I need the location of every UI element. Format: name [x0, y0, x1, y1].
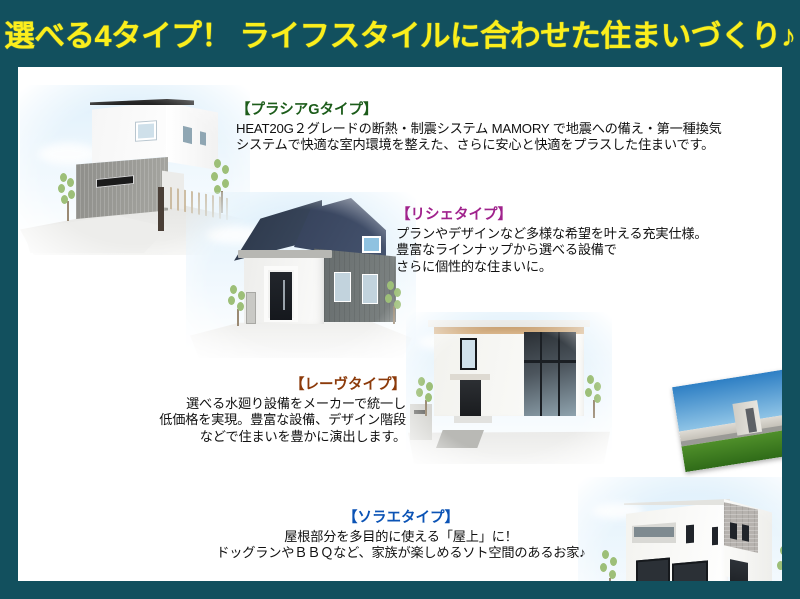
approach-paving: [436, 430, 484, 448]
type-block-riche: 【リシェタイプ】 プランやデザインなど多様な希望を叶える充実仕様。 豊富なライン…: [396, 206, 707, 276]
tree-icon: [414, 376, 436, 416]
square-window: [136, 121, 156, 140]
type-desc-line: さらに個性的な住まいに。: [396, 259, 707, 276]
type-block-reve: 【レーヴタイプ】 選べる水廻り設備をメーカーで統一し 低価格を実現。豊富な設備、…: [96, 376, 406, 446]
tree-icon: [382, 280, 404, 324]
side-window: [183, 126, 192, 144]
type-desc-line: 選べる水廻り設備をメーカーで統一し: [96, 396, 406, 413]
entry-door: [730, 559, 748, 581]
window: [334, 272, 351, 302]
roof-eave: [428, 320, 590, 327]
side-window: [200, 131, 206, 145]
type-title-plusia-g: 【プラシアGタイプ】: [236, 101, 722, 120]
type-desc-line: 屋根部分を多目的に使える「屋上」に！: [166, 529, 636, 546]
upper-window: [362, 236, 381, 253]
window: [460, 338, 477, 370]
tree-icon: [582, 374, 604, 418]
tall-glass-bay: [524, 332, 576, 416]
type-desc-line: 豊富なラインナップから選べる設備で: [396, 242, 707, 259]
sliding-glass-door: [636, 558, 670, 581]
window: [730, 522, 737, 539]
entry-door: [270, 272, 292, 320]
sliding-glass-door: [672, 560, 708, 581]
type-desc-line: プランやデザインなど多様な希望を叶える充実仕様。: [396, 226, 707, 243]
type-title-reve: 【レーヴタイプ】: [96, 376, 406, 395]
page-title: 選べる4タイプ！ ライフスタイルに合わせた住まいづくり♪: [4, 11, 796, 55]
content-panel: 【プラシアGタイプ】 HEAT20G２グレードの断熱・制震システム MAMORY…: [18, 67, 782, 581]
window: [712, 527, 718, 546]
sorae-rooftop-photo: [672, 368, 782, 472]
window: [362, 274, 378, 304]
window: [686, 525, 694, 544]
type-desc-line: 低価格を実現。豊富な設備、デザイン階段: [96, 412, 406, 429]
type-desc-line: ドッグランやＢＢＱなど、家族が楽しめるソト空間のあるお家♪: [166, 545, 636, 562]
lower-gray-wall: [76, 157, 168, 219]
type-title-sorae: 【ソラエタイプ】: [166, 509, 636, 528]
entry-door: [460, 380, 481, 418]
riche-exterior-photo: [186, 192, 416, 360]
tree-icon: [774, 545, 782, 581]
tree-icon: [226, 284, 248, 326]
window: [742, 524, 749, 541]
type-title-riche: 【リシェタイプ】: [396, 206, 707, 225]
poster-canvas: 選べる4タイプ！ ライフスタイルに合わせた住まいづくり♪: [0, 0, 800, 599]
type-block-plusia-g: 【プラシアGタイプ】 HEAT20G２グレードの断熱・制震システム MAMORY…: [236, 101, 722, 154]
entry-step: [454, 416, 492, 423]
type-block-sorae: 【ソラエタイプ】 屋根部分を多目的に使える「屋上」に！ ドッグランやＢＢＱなど、…: [166, 509, 636, 562]
poster-header: 選べる4タイプ！ ライフスタイルに合わせた住まいづくり♪: [0, 0, 800, 66]
type-desc-line: HEAT20G２グレードの断熱・制震システム MAMORY で地震への備え・第一…: [236, 121, 722, 138]
type-desc-line: などで住まいを豊かに演出します。: [96, 429, 406, 446]
reve-exterior-photo: [406, 312, 612, 464]
glass-mullion: [524, 360, 576, 363]
cloud-shape: [38, 143, 98, 165]
tree-icon: [56, 171, 78, 221]
gate-post: [158, 187, 164, 231]
type-desc-line: システムで快適な室内環境を整えた、さらに安心と快適をプラスした住まいです。: [236, 137, 722, 154]
portico-roof: [238, 250, 332, 258]
